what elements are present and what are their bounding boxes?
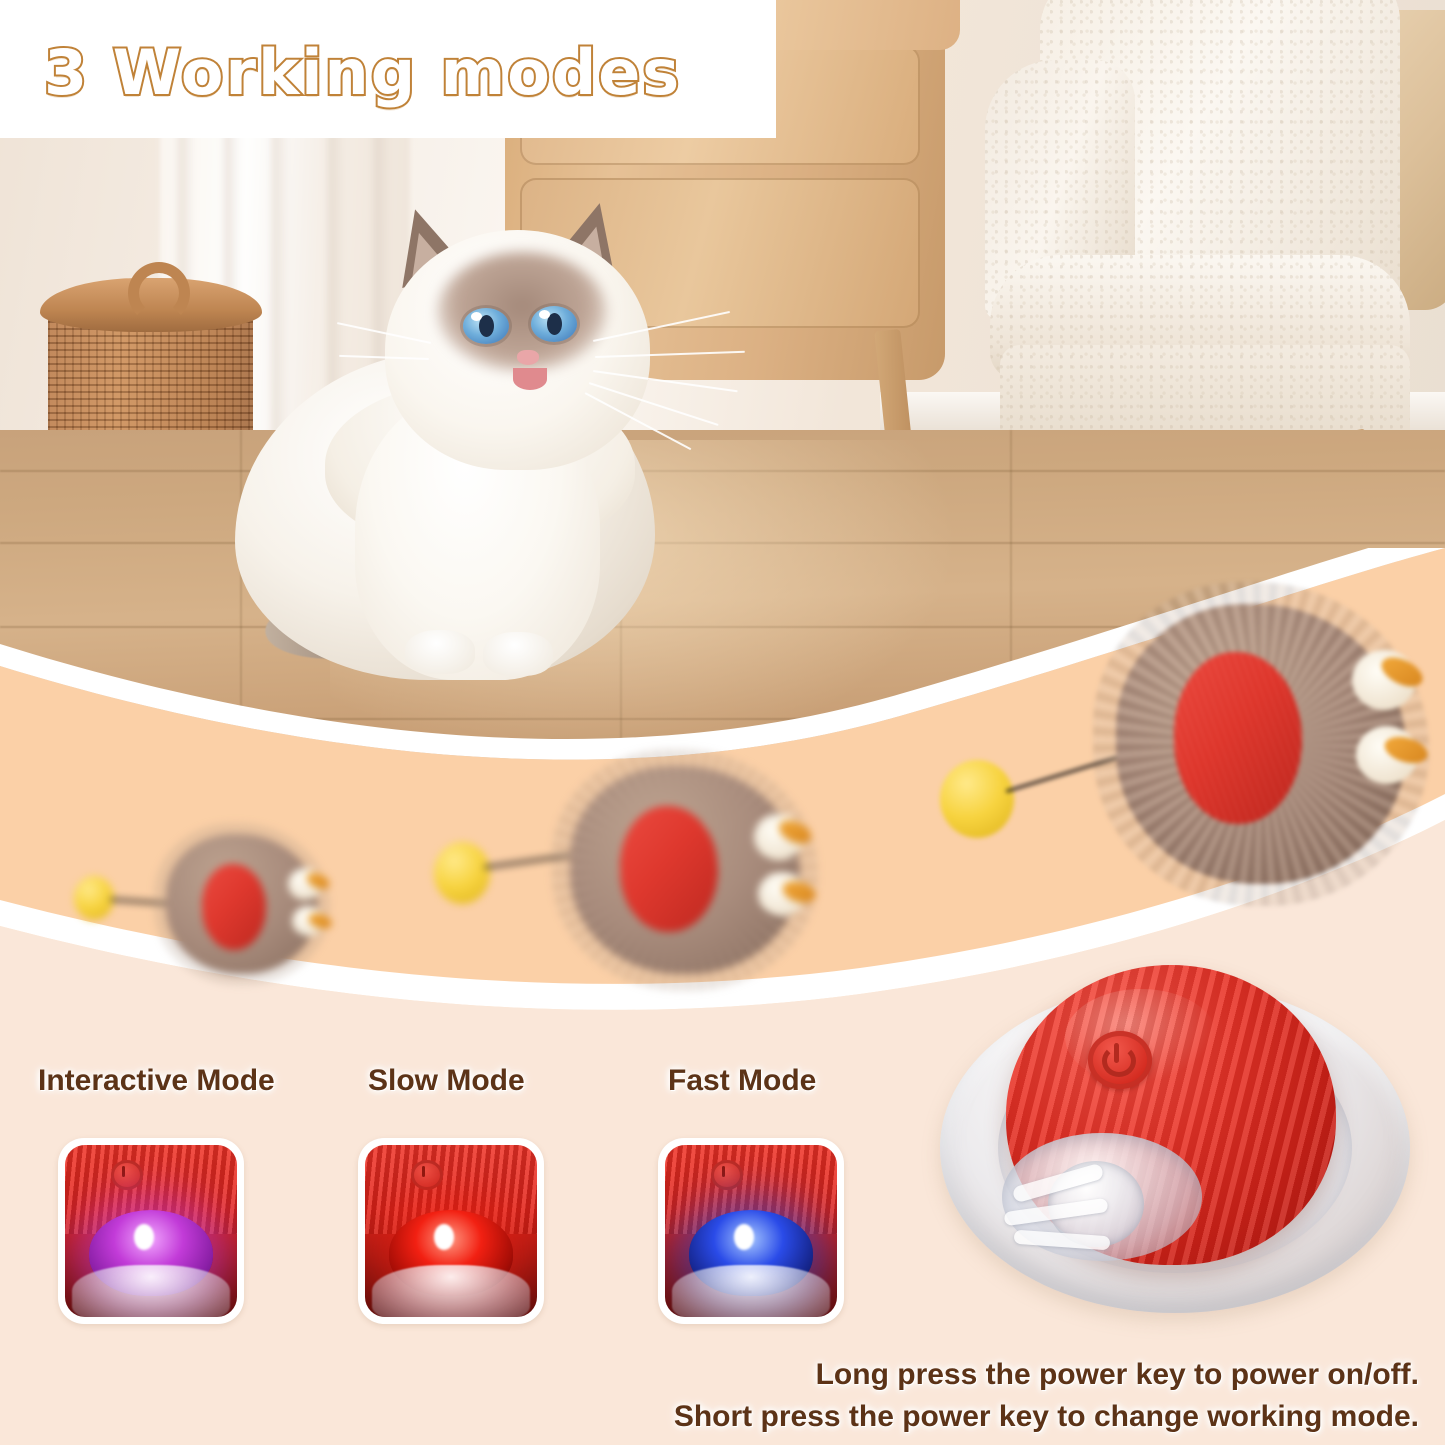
mode-label-slow: Slow Mode xyxy=(368,1064,525,1098)
product-hero-image xyxy=(940,965,1410,1330)
motion-band-section xyxy=(0,548,1445,1018)
mode-label-interactive: Interactive Mode xyxy=(38,1064,275,1098)
product-infographic: 3 Working modes xyxy=(0,0,1445,1445)
pom-pom xyxy=(74,876,114,920)
mode-thumbnail-slow[interactable] xyxy=(358,1138,544,1324)
instruction-line-2: Short press the power key to change work… xyxy=(674,1400,1419,1434)
cat-nose xyxy=(517,350,539,365)
toy-instance-near xyxy=(940,598,1440,898)
toy-instance-far xyxy=(70,828,340,978)
page-title: 3 Working modes xyxy=(44,36,681,109)
pom-pom xyxy=(940,760,1014,838)
toy-ball xyxy=(1174,652,1302,824)
toy-ball xyxy=(202,864,266,950)
toy-instance-mid xyxy=(430,760,860,980)
mode-thumbnail-fast[interactable] xyxy=(658,1138,844,1324)
pom-pom xyxy=(434,842,490,904)
toy-ball xyxy=(620,806,718,932)
power-button-icon[interactable] xyxy=(1088,1031,1152,1089)
mode-thumbnail-interactive[interactable] xyxy=(58,1138,244,1324)
mode-label-fast: Fast Mode xyxy=(668,1064,816,1098)
instruction-line-1: Long press the power key to power on/off… xyxy=(816,1358,1419,1392)
